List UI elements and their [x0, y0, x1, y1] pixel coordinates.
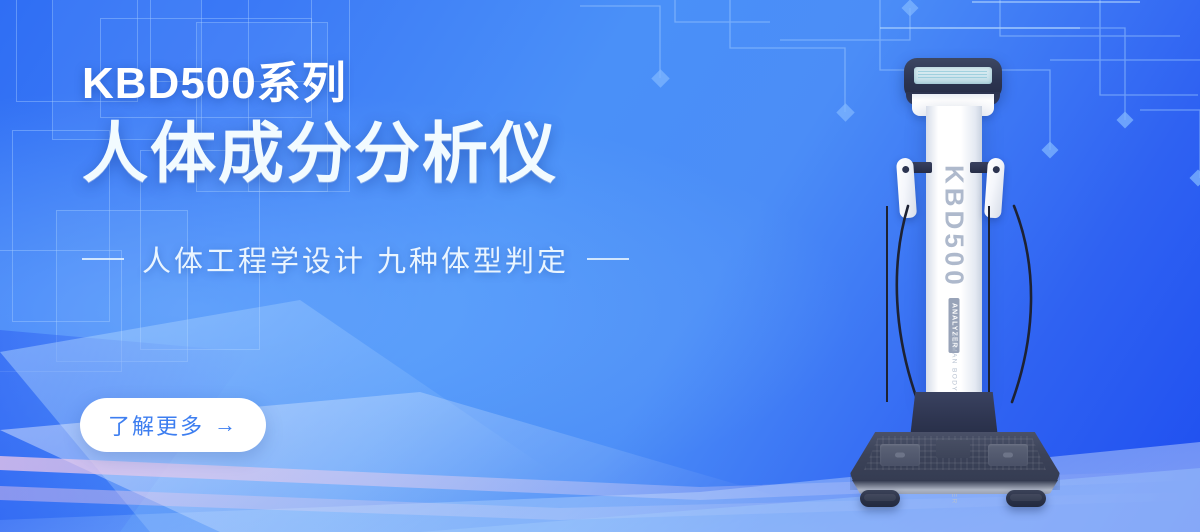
handle-button-left: [901, 166, 908, 173]
learn-more-label: 了解更多: [108, 409, 204, 441]
subtitle-text: 人体工程学设计 九种体型判定: [142, 238, 569, 280]
device-foot-electrode-left: [880, 444, 920, 466]
device-stem: [910, 392, 998, 438]
electrode-nub-left: [895, 453, 905, 458]
arrow-right-icon: →: [214, 414, 238, 436]
device-screen-content: [918, 71, 987, 79]
device-foot-electrode-right: [988, 444, 1028, 466]
device-foot-left: [860, 490, 900, 507]
copy-block: KBD500系列 人体成分分析仪 人体工程学设计 九种体型判定: [82, 62, 722, 280]
device-cable-right: [988, 206, 1036, 402]
device-screen: [914, 67, 992, 84]
product-image-analyzer: KBD500 ANALYZER HUMAN BODY COMPOSITION A…: [836, 44, 1146, 532]
subtitle-row: 人体工程学设计 九种体型判定: [82, 238, 722, 280]
device-cable-left: [886, 206, 934, 402]
handle-button-right: [992, 166, 999, 173]
eyebrow-text: KBD500系列: [82, 62, 722, 106]
device-platform-center-plate: [936, 440, 970, 458]
foot-ring-right: [1010, 494, 1042, 501]
electrode-nub-right: [1003, 453, 1013, 458]
page-title: 人体成分分析仪: [82, 120, 722, 186]
foot-ring-left: [864, 494, 896, 501]
subtitle-dash-right: [587, 258, 629, 260]
subtitle-dash-left: [82, 258, 124, 260]
device-foot-right: [1006, 490, 1046, 507]
hero-banner: KBD500系列 人体成分分析仪 人体工程学设计 九种体型判定 了解更多 → K…: [0, 0, 1200, 532]
learn-more-button[interactable]: 了解更多 →: [80, 398, 266, 452]
